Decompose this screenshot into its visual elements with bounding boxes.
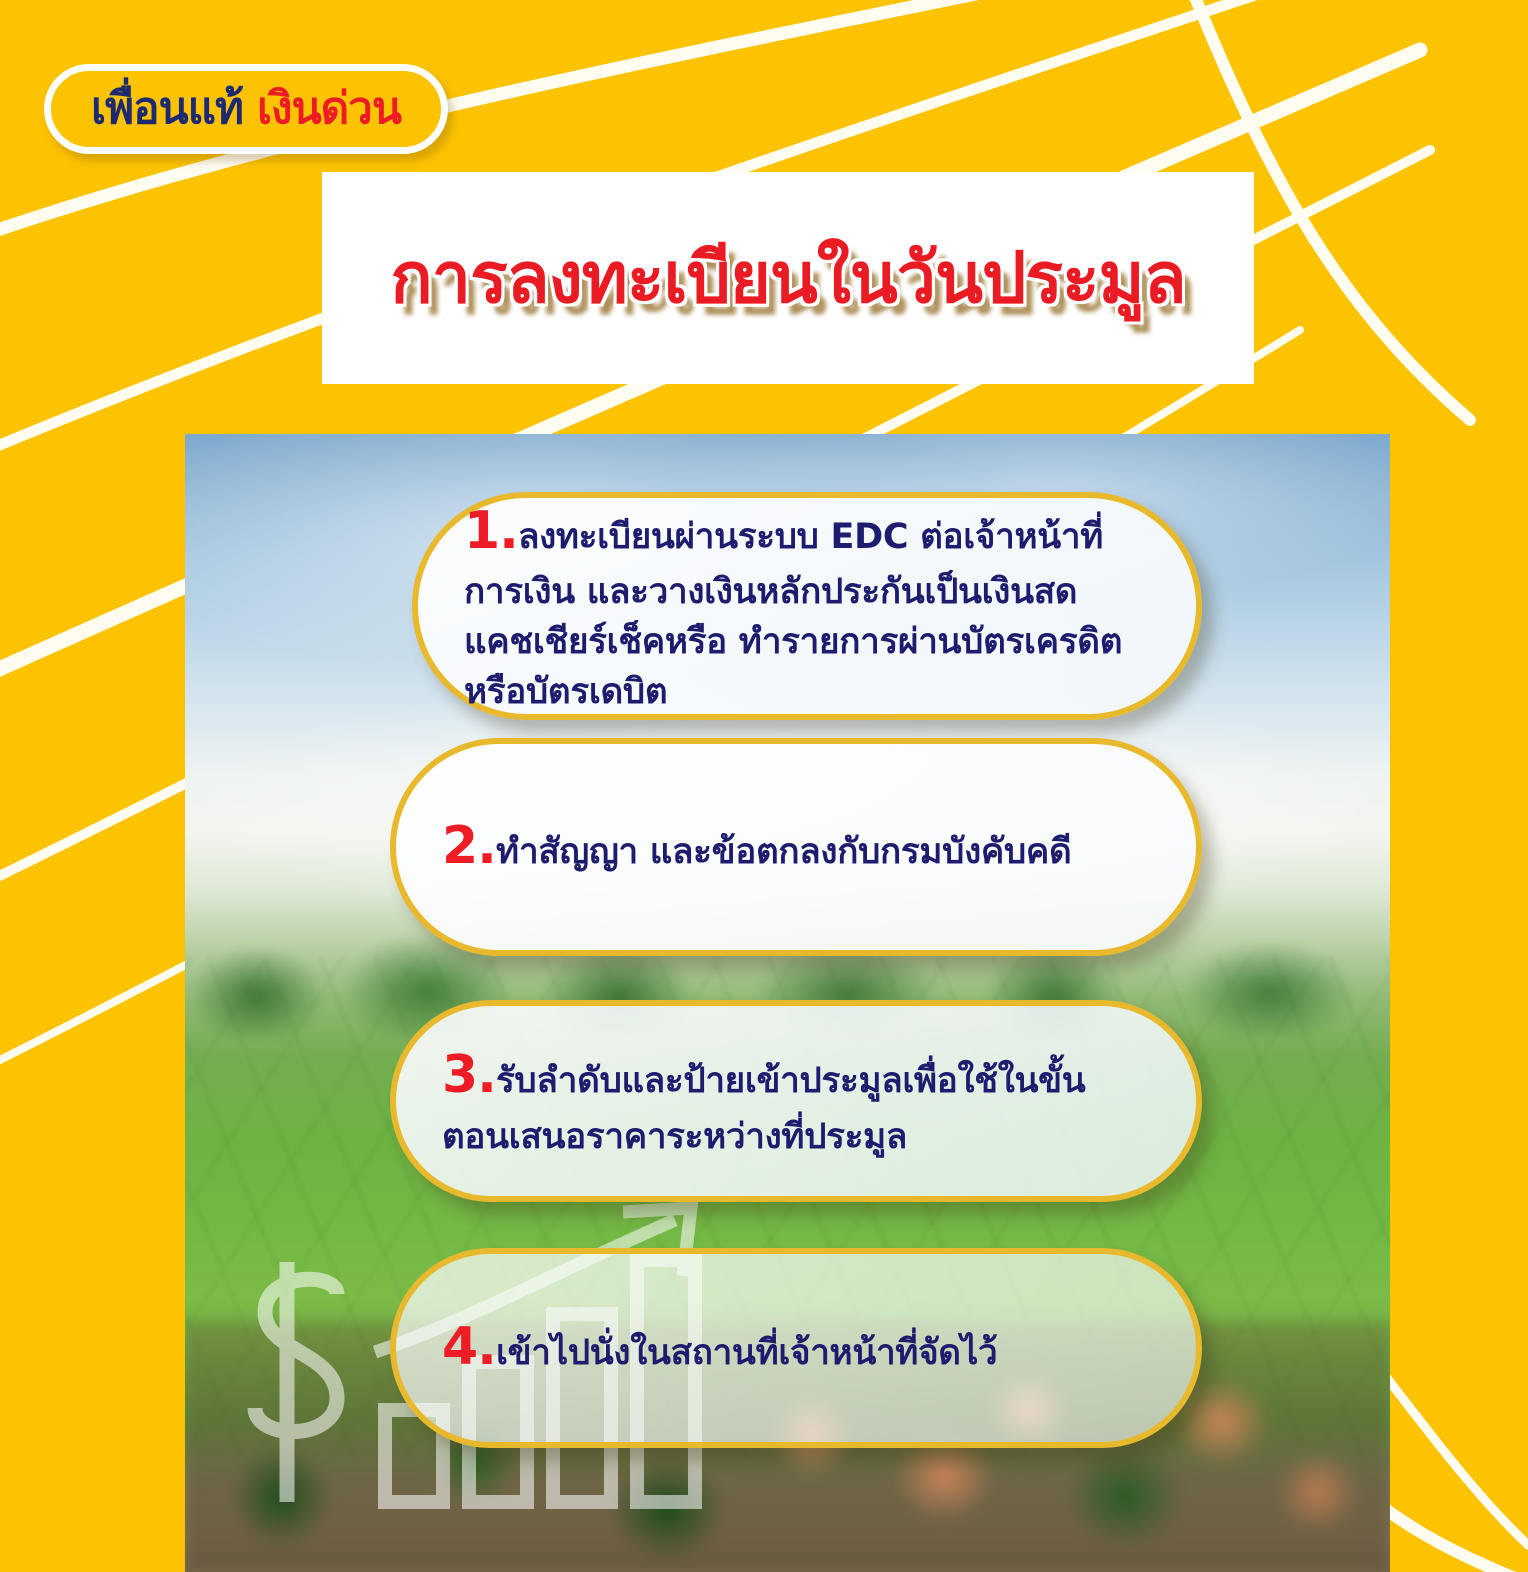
step-card-4-body: 4.เข้าไปนั่งในสถานที่เจ้าหน้าที่จัดไว้ — [396, 1311, 1043, 1385]
step-card-1[interactable]: 1.ลงทะเบียนผ่านระบบ EDC ต่อเจ้าหน้าที่กา… — [412, 492, 1202, 720]
step-card-1-body: 1.ลงทะเบียนผ่านระบบ EDC ต่อเจ้าหน้าที่กา… — [418, 495, 1196, 718]
step-text-1: ลงทะเบียนผ่านระบบ EDC ต่อเจ้าหน้าที่การเ… — [464, 517, 1122, 712]
brand-logo-badge[interactable]: เพื่อนแท้ เงินด่วน — [44, 64, 448, 154]
step-card-2-body: 2.ทำสัญญา และข้อตกลงกับกรมบังคับคดี — [396, 810, 1117, 884]
step-number-4: 4. — [442, 1317, 496, 1377]
step-number-3: 3. — [442, 1045, 496, 1105]
brand-name-secondary: เงินด่วน — [257, 87, 401, 131]
step-text-2: ทำสัญญา และข้อตกลงกับกรมบังคับคดี — [496, 832, 1072, 872]
step-number-1: 1. — [464, 501, 518, 561]
step-card-3-body: 3.รับลำดับและป้ายเข้าประมูลเพื่อใช้ในขั้… — [396, 1039, 1196, 1163]
step-card-4[interactable]: 4.เข้าไปนั่งในสถานที่เจ้าหน้าที่จัดไว้ — [390, 1248, 1202, 1448]
step-text-4: เข้าไปนั่งในสถานที่เจ้าหน้าที่จัดไว้ — [496, 1333, 997, 1373]
page-title: การลงทะเบียนในวันประมูล — [390, 243, 1185, 313]
step-text-3: รับลำดับและป้ายเข้าประมูลเพื่อใช้ในขั้นต… — [442, 1061, 1085, 1157]
step-card-2[interactable]: 2.ทำสัญญา และข้อตกลงกับกรมบังคับคดี — [390, 738, 1202, 956]
brand-name-primary: เพื่อนแท้ — [91, 87, 243, 131]
title-banner: การลงทะเบียนในวันประมูล — [322, 172, 1254, 384]
step-number-2: 2. — [442, 816, 496, 876]
step-card-3[interactable]: 3.รับลำดับและป้ายเข้าประมูลเพื่อใช้ในขั้… — [390, 1000, 1202, 1202]
